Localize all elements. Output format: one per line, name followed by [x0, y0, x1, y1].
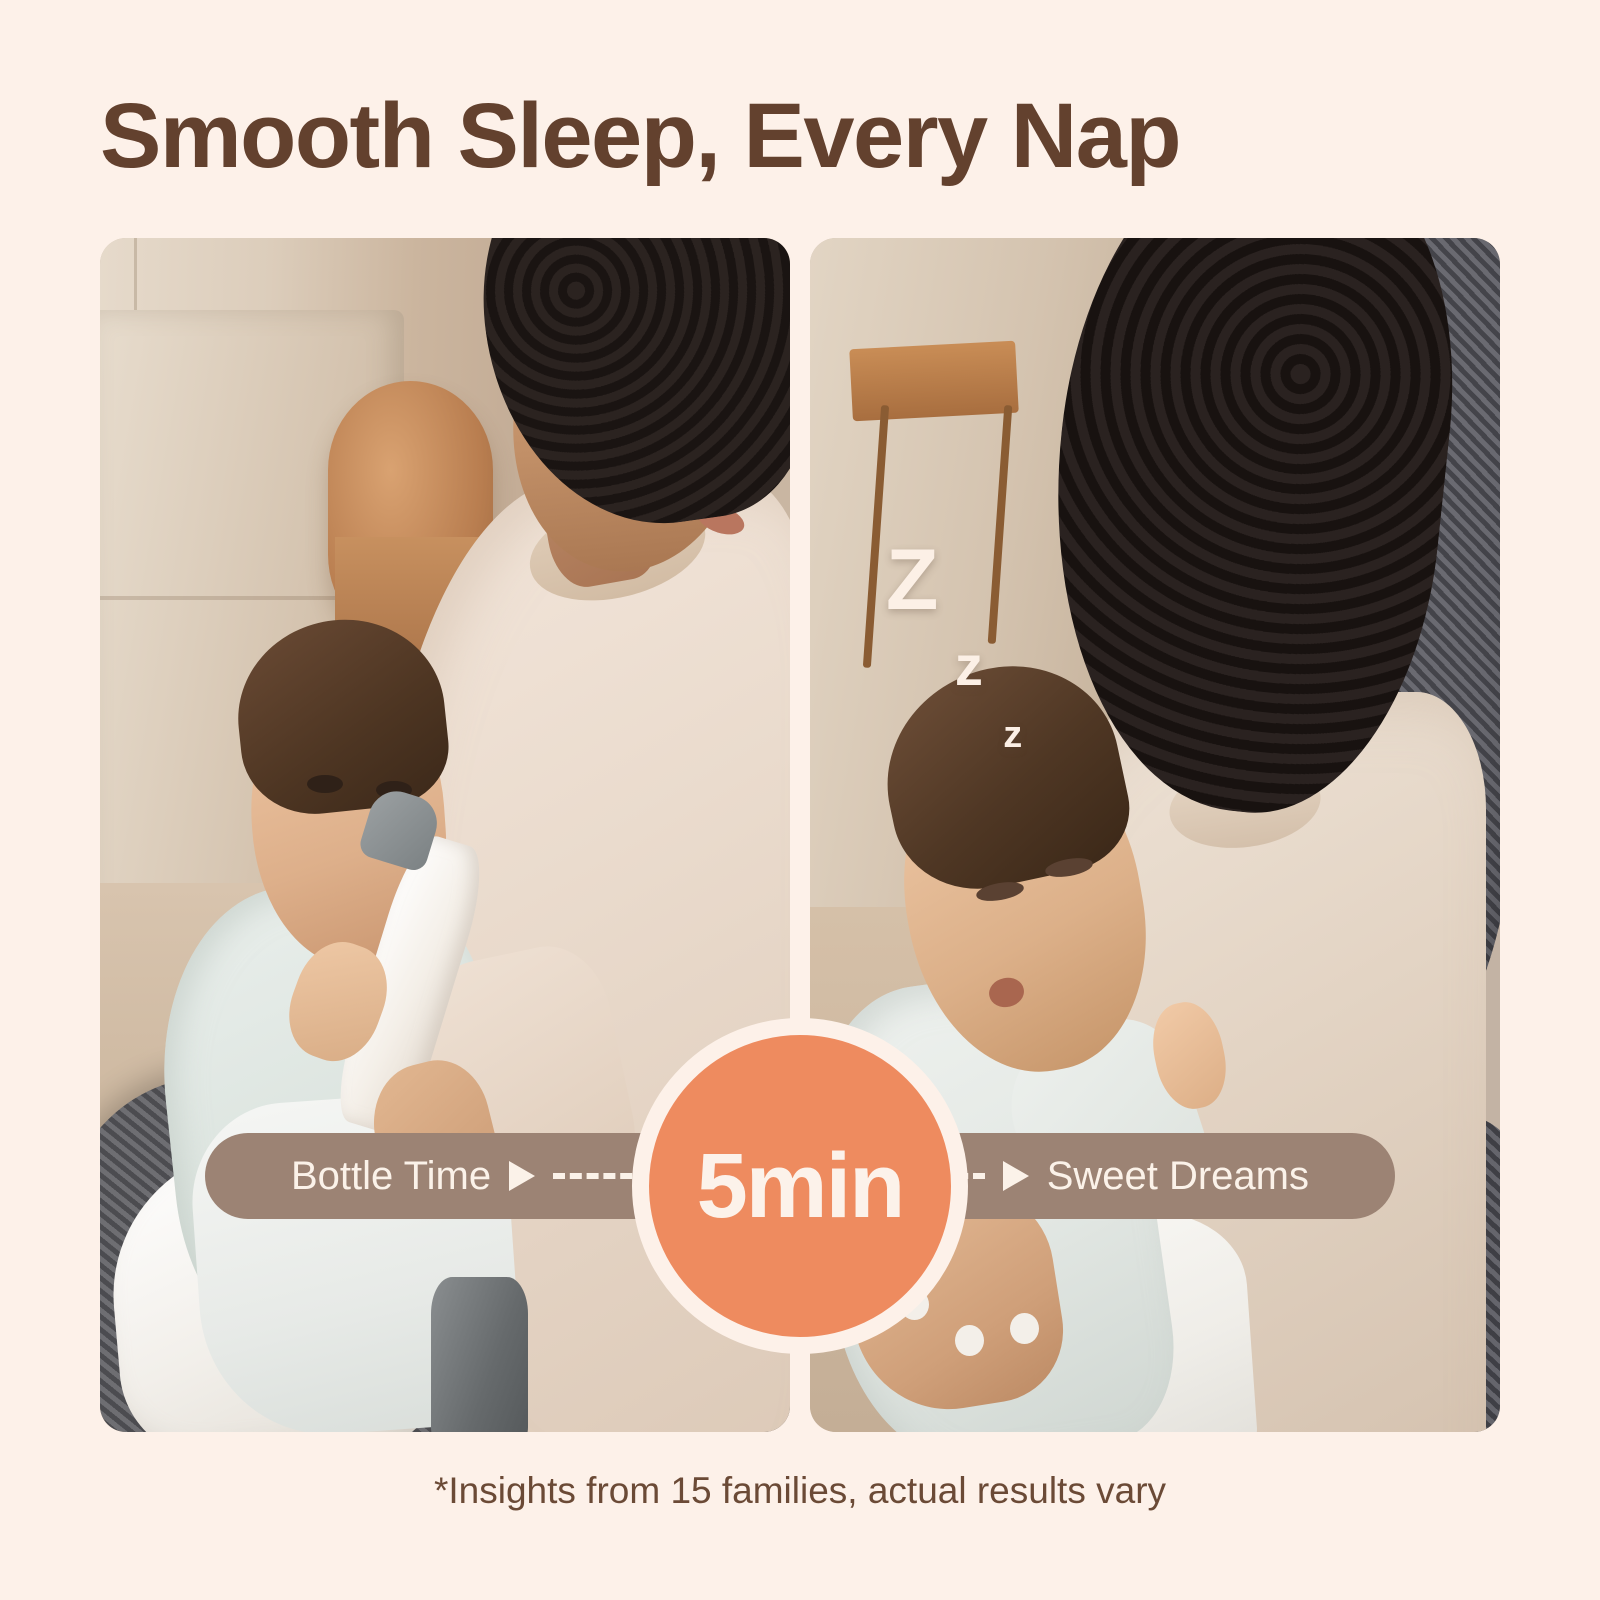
- duration-badge-value: 5min: [697, 1134, 904, 1239]
- banner-left-group: Bottle Time: [291, 1154, 649, 1199]
- sweet-dreams-label: Sweet Dreams: [1047, 1154, 1309, 1199]
- coffee-table: [850, 341, 1019, 421]
- bottle-time-label: Bottle Time: [291, 1154, 491, 1199]
- bottle-warmer-device: [431, 1277, 528, 1432]
- page-title: Smooth Sleep, Every Nap: [100, 84, 1180, 189]
- fingernail: [1010, 1313, 1039, 1344]
- arrow-right-icon: [1003, 1161, 1029, 1191]
- sleep-z-medium: z: [955, 638, 983, 694]
- sleep-z-small: z: [1003, 716, 1022, 754]
- arrow-right-icon: [509, 1161, 535, 1191]
- sleep-z-large: Z: [886, 537, 939, 623]
- disclaimer-text: *Insights from 15 families, actual resul…: [0, 1470, 1600, 1512]
- fingernail: [955, 1325, 984, 1356]
- duration-badge: 5min: [632, 1018, 968, 1354]
